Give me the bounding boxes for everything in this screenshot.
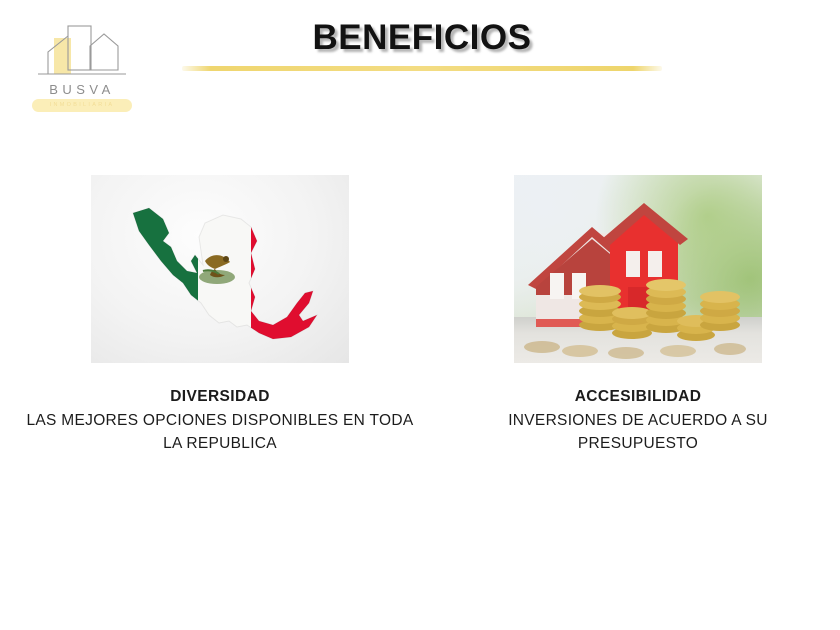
building-outline-logo-icon [34, 24, 130, 84]
benefit-heading: DIVERSIDAD [18, 385, 422, 408]
benefit-caption-diversidad: DIVERSIDAD LAS MEJORES OPCIONES DISPONIB… [18, 385, 422, 455]
benefit-caption-accesibilidad: ACCESIBILIDAD INVERSIONES DE ACUERDO A S… [452, 385, 824, 455]
benefit-column-diversidad: DIVERSIDAD LAS MEJORES OPCIONES DISPONIB… [18, 175, 422, 455]
title-underline-rule [182, 66, 662, 71]
brand-logo: Inmobiliaria BUSVA [26, 24, 138, 116]
slide-title: BENEFICIOS [180, 18, 664, 58]
logo-wordmark: BUSVA [26, 82, 138, 97]
mexico-map-flag-photo [91, 175, 349, 363]
logo-tagline: Inmobiliaria [32, 99, 132, 112]
benefit-column-accesibilidad: ACCESIBILIDAD INVERSIONES DE ACUERDO A S… [452, 175, 824, 455]
benefit-body: LAS MEJORES OPCIONES DISPONIBLES EN TODA… [18, 409, 422, 455]
benefit-body: INVERSIONES DE ACUERDO A SU PRESUPUESTO [452, 409, 824, 455]
house-and-coins-photo [514, 175, 762, 363]
benefit-heading: ACCESIBILIDAD [452, 385, 824, 408]
logo-tagline-pill: Inmobiliaria [32, 99, 132, 112]
